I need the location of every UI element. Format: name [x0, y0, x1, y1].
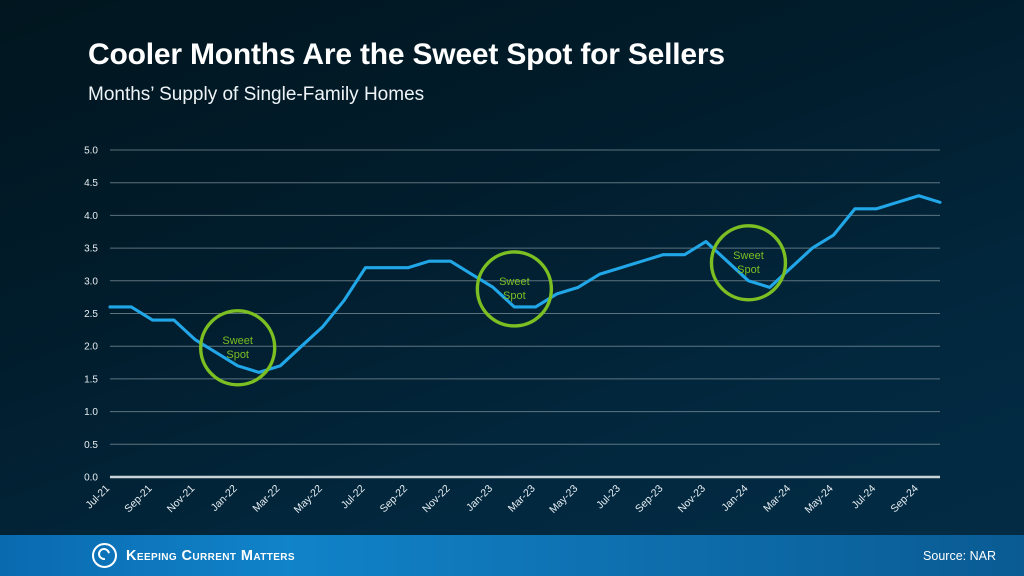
x-axis-tick-label: Nov-21: [165, 483, 198, 516]
y-axis-tick-label: 3.0: [84, 276, 98, 287]
y-axis-tick-label: 0.5: [84, 440, 98, 451]
footer-bar: Keeping Current Matters Source: NAR: [0, 535, 1024, 576]
x-axis-tick-label: Sep-22: [378, 483, 411, 516]
x-axis-tick-label: Mar-24: [761, 483, 793, 515]
x-axis-tick-label: May-24: [802, 483, 835, 516]
gridlines-group: [110, 150, 940, 477]
brand-name: Keeping Current Matters: [126, 548, 295, 564]
x-axis-tick-label: Jul-22: [339, 483, 368, 512]
line-chart: 0.00.51.01.52.02.53.03.54.04.55.0 Jul-21…: [0, 0, 1024, 576]
x-axis-tick-label: Sep-23: [633, 483, 666, 516]
x-axis-tick-label: May-23: [547, 483, 580, 516]
y-axis-tick-label: 2.5: [84, 309, 98, 320]
x-axis-tick-label: May-22: [292, 483, 325, 516]
sweet-spot-label: Sweet: [499, 276, 530, 288]
x-axis-tick-label: Sep-24: [888, 483, 921, 516]
chart-area: 0.00.51.01.52.02.53.03.54.04.55.0 Jul-21…: [0, 0, 1024, 576]
x-axis-tick-label: Mar-23: [506, 483, 538, 515]
y-axis-tick-label: 1.5: [84, 374, 98, 385]
x-axis-tick-label: Jan-22: [209, 483, 240, 514]
sweet-spot-circle: [477, 252, 551, 326]
sweet-spot-label: Sweet: [733, 250, 764, 262]
slide-root: Cooler Months Are the Sweet Spot for Sel…: [0, 0, 1024, 576]
sweet-spot-label: Spot: [226, 349, 249, 361]
y-axis-tick-label: 2.0: [84, 342, 98, 353]
brand-logo: Keeping Current Matters: [92, 535, 295, 576]
y-axis-tick-label: 3.5: [84, 244, 98, 255]
x-axis-tick-label: Jan-24: [719, 483, 750, 514]
sweet-spot-circle: [711, 226, 785, 300]
x-axis-tick-label: Sep-21: [122, 483, 155, 516]
sweet-spot-circle: [201, 311, 275, 385]
x-axis-tick-label: Nov-23: [676, 483, 709, 516]
y-axis-tick-label: 0.0: [84, 473, 98, 484]
x-axis-tick-label: Mar-22: [250, 483, 282, 515]
sweet-spot-label: Spot: [503, 290, 526, 302]
y-axis-tick-label: 5.0: [84, 146, 98, 157]
sweet-spot-label: Spot: [737, 264, 760, 276]
sweet-spot-label: Sweet: [222, 335, 253, 347]
y-axis-tick-label: 4.5: [84, 178, 98, 189]
swirl-logo-icon: [92, 543, 117, 568]
x-axis-tick-label: Jul-23: [594, 483, 623, 512]
x-axis-tick-label: Jul-21: [83, 483, 112, 512]
source-note: Source: NAR: [923, 535, 996, 576]
y-axis-tick-label: 1.0: [84, 407, 98, 418]
x-axis-tick-label: Nov-22: [420, 483, 453, 516]
x-axis-tick-label: Jul-24: [850, 483, 879, 512]
sweet-spot-annotations: SweetSpotSweetSpotSweetSpot: [201, 226, 786, 385]
y-axis-tick-label: 4.0: [84, 211, 98, 222]
x-axis-labels: Jul-21Sep-21Nov-21Jan-22Mar-22May-22Jul-…: [83, 483, 921, 516]
x-axis-tick-label: Jan-23: [464, 483, 495, 514]
y-axis-labels: 0.00.51.01.52.02.53.03.54.04.55.0: [84, 146, 98, 484]
